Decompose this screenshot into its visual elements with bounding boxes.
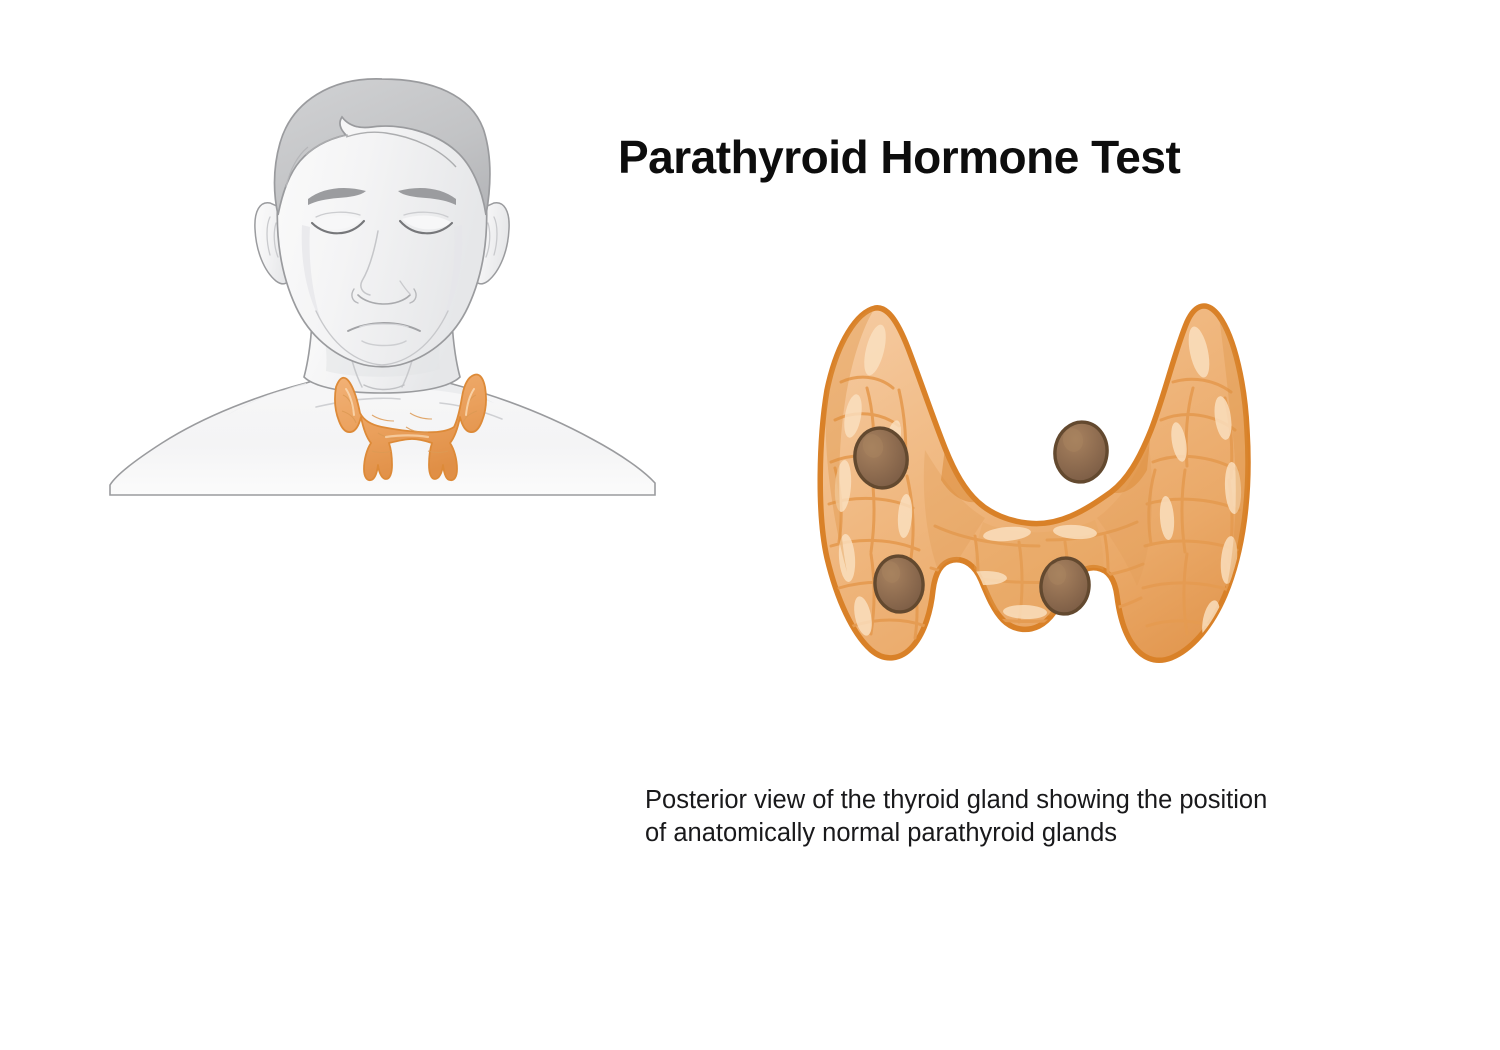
- caption-line-1: Posterior view of the thyroid gland show…: [645, 784, 1385, 818]
- page-title: Parathyroid Hormone Test: [618, 131, 1238, 184]
- head-and-neck-illustration: [110, 79, 655, 495]
- thyroid-gland-posterior-illustration: [820, 306, 1248, 660]
- parathyroid-gland-superior-right: [1051, 419, 1111, 486]
- figure-caption: Posterior view of the thyroid gland show…: [645, 784, 1385, 852]
- caption-line-2: of anatomically normal parathyroid gland…: [645, 817, 1385, 851]
